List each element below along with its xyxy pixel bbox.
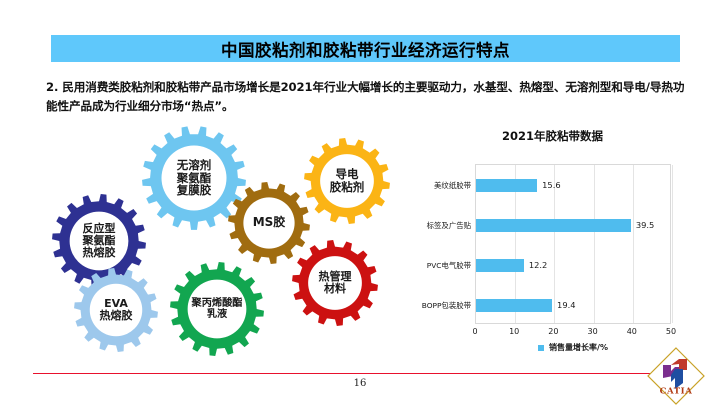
chart-bar[interactable]	[476, 219, 631, 232]
chart-xtick-label: 10	[509, 327, 519, 336]
chart-xtick-label: 50	[666, 327, 676, 336]
chart-xtick-label: 20	[548, 327, 558, 336]
page-number: 16	[0, 378, 720, 389]
gear-4: 聚丙烯酸酯乳液	[170, 262, 264, 356]
svg-text:CATIA: CATIA	[660, 387, 693, 397]
body-paragraph: 2. 民用消费类胶粘剂和胶粘带产品市场增长是2021年行业大幅增长的主要驱动力，…	[46, 78, 694, 116]
slide-title-bar: 中国胶粘剂和胶粘带行业经济运行特点	[51, 35, 680, 62]
chart-category-label: 标签及广告贴	[404, 220, 476, 231]
page-title: 中国胶粘剂和胶粘带行业经济运行特点	[221, 37, 510, 61]
chart-bar-value: 39.5	[636, 220, 654, 230]
chart-bar-row: 美纹纸胶带15.6	[476, 165, 561, 205]
legend-swatch	[538, 345, 544, 351]
gear-6: 导电胶粘剂	[304, 138, 390, 224]
chart-legend: 销售量增长率/%	[475, 342, 671, 353]
chart-bar-value: 12.2	[529, 260, 547, 270]
chart-bar[interactable]	[476, 259, 524, 272]
chart-xtick-label: 30	[588, 327, 598, 336]
chart-bar-value: 19.4	[557, 300, 575, 310]
gear-3: EVA热熔胶	[74, 268, 158, 352]
chart-category-label: BOPP包装胶带	[404, 300, 476, 311]
chart-xtick-label: 40	[627, 327, 637, 336]
chart-bar-row: PVC电气胶带12.2	[476, 245, 547, 285]
chart-bar-row: 标签及广告贴39.5	[476, 205, 654, 245]
catia-logo-icon: CATIA	[645, 345, 707, 407]
chart-xtick-label: 0	[472, 327, 477, 336]
footer-divider	[33, 373, 681, 374]
gear-7: 热管理材料	[292, 240, 378, 326]
chart-bar-row: BOPP包装胶带19.4	[476, 285, 576, 325]
chart-category-label: PVC电气胶带	[404, 260, 476, 271]
chart-panel: 2021年胶粘带数据 美纹纸胶带15.6标签及广告贴39.5PVC电气胶带12.…	[405, 128, 700, 363]
catia-logo: CATIA	[645, 345, 707, 407]
chart-gridline	[672, 165, 673, 323]
chart-plot-area: 美纹纸胶带15.6标签及广告贴39.5PVC电气胶带12.2BOPP包装胶带19…	[475, 164, 671, 324]
legend-label: 销售量增长率/%	[549, 342, 608, 353]
gear-diagram: 无溶剂聚氨酯复膜胶反应型聚氨酯热熔胶EVA热熔胶聚丙烯酸酯乳液MS胶导电胶粘剂热…	[30, 120, 400, 360]
chart-title: 2021年胶粘带数据	[405, 128, 700, 144]
chart-bar[interactable]	[476, 179, 537, 192]
chart-bar-value: 15.6	[542, 180, 560, 190]
chart-category-label: 美纹纸胶带	[404, 180, 476, 191]
chart-bar[interactable]	[476, 299, 552, 312]
